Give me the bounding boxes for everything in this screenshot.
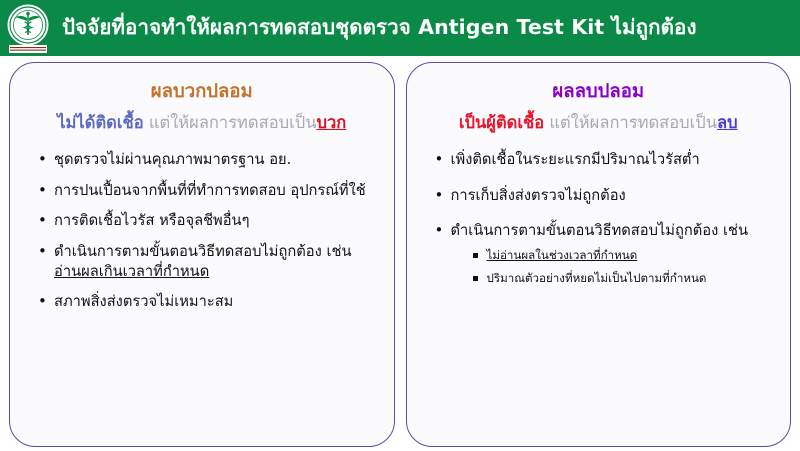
list-item: ชุดตรวจไม่ผ่านคุณภาพมาตรฐาน อย. <box>38 150 378 170</box>
bullet-text: เพิ่งติดเชื้อในระยะแรกมีปริมาณไวรัสต่ำ <box>451 151 700 168</box>
list-item: ดำเนินการตามขั้นตอนวิธีทดสอบไม่ถูกต้อง เ… <box>38 242 378 281</box>
list-item: ปริมาณตัวอย่างที่หยดไม่เป็นไปตามที่กำหนด <box>473 271 775 286</box>
panel-left-subtitle-part-b: บวก <box>317 113 347 132</box>
panel-right-bullet-list: เพิ่งติดเชื้อในระยะแรกมีปริมาณไวรัสต่ำ ก… <box>419 150 779 286</box>
slide-root: ปัจจัยที่อาจทำให้ผลการทดสอบชุดตรวจ Antig… <box>0 0 800 451</box>
panel-false-negative: ผลลบปลอม เป็นผู้ติดเชื้อ แต่ให้ผลการทดสอ… <box>406 62 792 447</box>
list-item: เพิ่งติดเชื้อในระยะแรกมีปริมาณไวรัสต่ำ <box>435 150 775 170</box>
panel-right-subbullet-list: ไม่อ่านผลในช่วงเวลาที่กำหนด ปริมาณตัวอย่… <box>451 248 775 286</box>
bullet-text-underlined: อ่านผลเกินเวลาที่กำหนด <box>54 263 209 280</box>
list-item: ไม่อ่านผลในช่วงเวลาที่กำหนด <box>473 248 775 263</box>
panel-left-subtitle: ไม่ได้ติดเชื้อ แต่ให้ผลการทดสอบเป็นบวก <box>22 113 382 134</box>
bullet-text: ดำเนินการตามขั้นตอนวิธีทดสอบไม่ถูกต้อง เ… <box>451 222 749 239</box>
ministry-of-public-health-seal-icon <box>0 0 56 56</box>
panels-container: ผลบวกปลอม ไม่ได้ติดเชื้อ แต่ให้ผลการทดสอ… <box>0 62 800 447</box>
panel-left-subtitle-part-mid: แต่ให้ผลการทดสอบเป็น <box>144 113 317 132</box>
bullet-text: ชุดตรวจไม่ผ่านคุณภาพมาตรฐาน อย. <box>54 151 291 168</box>
bullet-text: การติดเชื้อไวรัส หรือจุลชีพอื่นๆ <box>54 212 249 229</box>
slide-header: ปัจจัยที่อาจทำให้ผลการทดสอบชุดตรวจ Antig… <box>0 0 800 56</box>
panel-right-subtitle-part-mid: แต่ให้ผลการทดสอบเป็น <box>544 113 717 132</box>
subbullet-text: ไม่อ่านผลในช่วงเวลาที่กำหนด <box>487 248 638 262</box>
bullet-text: ดำเนินการตามขั้นตอนวิธีทดสอบไม่ถูกต้อง เ… <box>54 243 352 260</box>
panel-right-subtitle: เป็นผู้ติดเชื้อ แต่ให้ผลการทดสอบเป็นลบ <box>419 113 779 134</box>
panel-right-subtitle-part-a: เป็นผู้ติดเชื้อ <box>459 113 544 132</box>
list-item: การปนเปื้อนจากพื้นที่ที่ทำการทดสอบ อุปกร… <box>38 181 378 201</box>
panel-left-title: ผลบวกปลอม <box>22 81 382 103</box>
panel-false-positive: ผลบวกปลอม ไม่ได้ติดเชื้อ แต่ให้ผลการทดสอ… <box>9 62 395 447</box>
bullet-text: การปนเปื้อนจากพื้นที่ที่ทำการทดสอบ อุปกร… <box>54 182 366 199</box>
bullet-text: สภาพสิ่งส่งตรวจไม่เหมาะสม <box>54 293 233 310</box>
list-item: ดำเนินการตามขั้นตอนวิธีทดสอบไม่ถูกต้อง เ… <box>435 221 775 286</box>
list-item: สภาพสิ่งส่งตรวจไม่เหมาะสม <box>38 292 378 312</box>
subbullet-text: ปริมาณตัวอย่างที่หยดไม่เป็นไปตามที่กำหนด <box>487 271 707 285</box>
list-item: การเก็บสิ่งส่งตรวจไม่ถูกต้อง <box>435 186 775 206</box>
panel-right-title: ผลลบปลอม <box>419 81 779 103</box>
page-title: ปัจจัยที่อาจทำให้ผลการทดสอบชุดตรวจ Antig… <box>62 16 697 40</box>
bullet-text: การเก็บสิ่งส่งตรวจไม่ถูกต้อง <box>451 187 626 204</box>
list-item: การติดเชื้อไวรัส หรือจุลชีพอื่นๆ <box>38 211 378 231</box>
panel-left-bullet-list: ชุดตรวจไม่ผ่านคุณภาพมาตรฐาน อย. การปนเปื… <box>22 150 382 312</box>
panel-right-subtitle-part-b: ลบ <box>717 113 738 132</box>
panel-left-subtitle-part-a: ไม่ได้ติดเชื้อ <box>57 113 143 132</box>
